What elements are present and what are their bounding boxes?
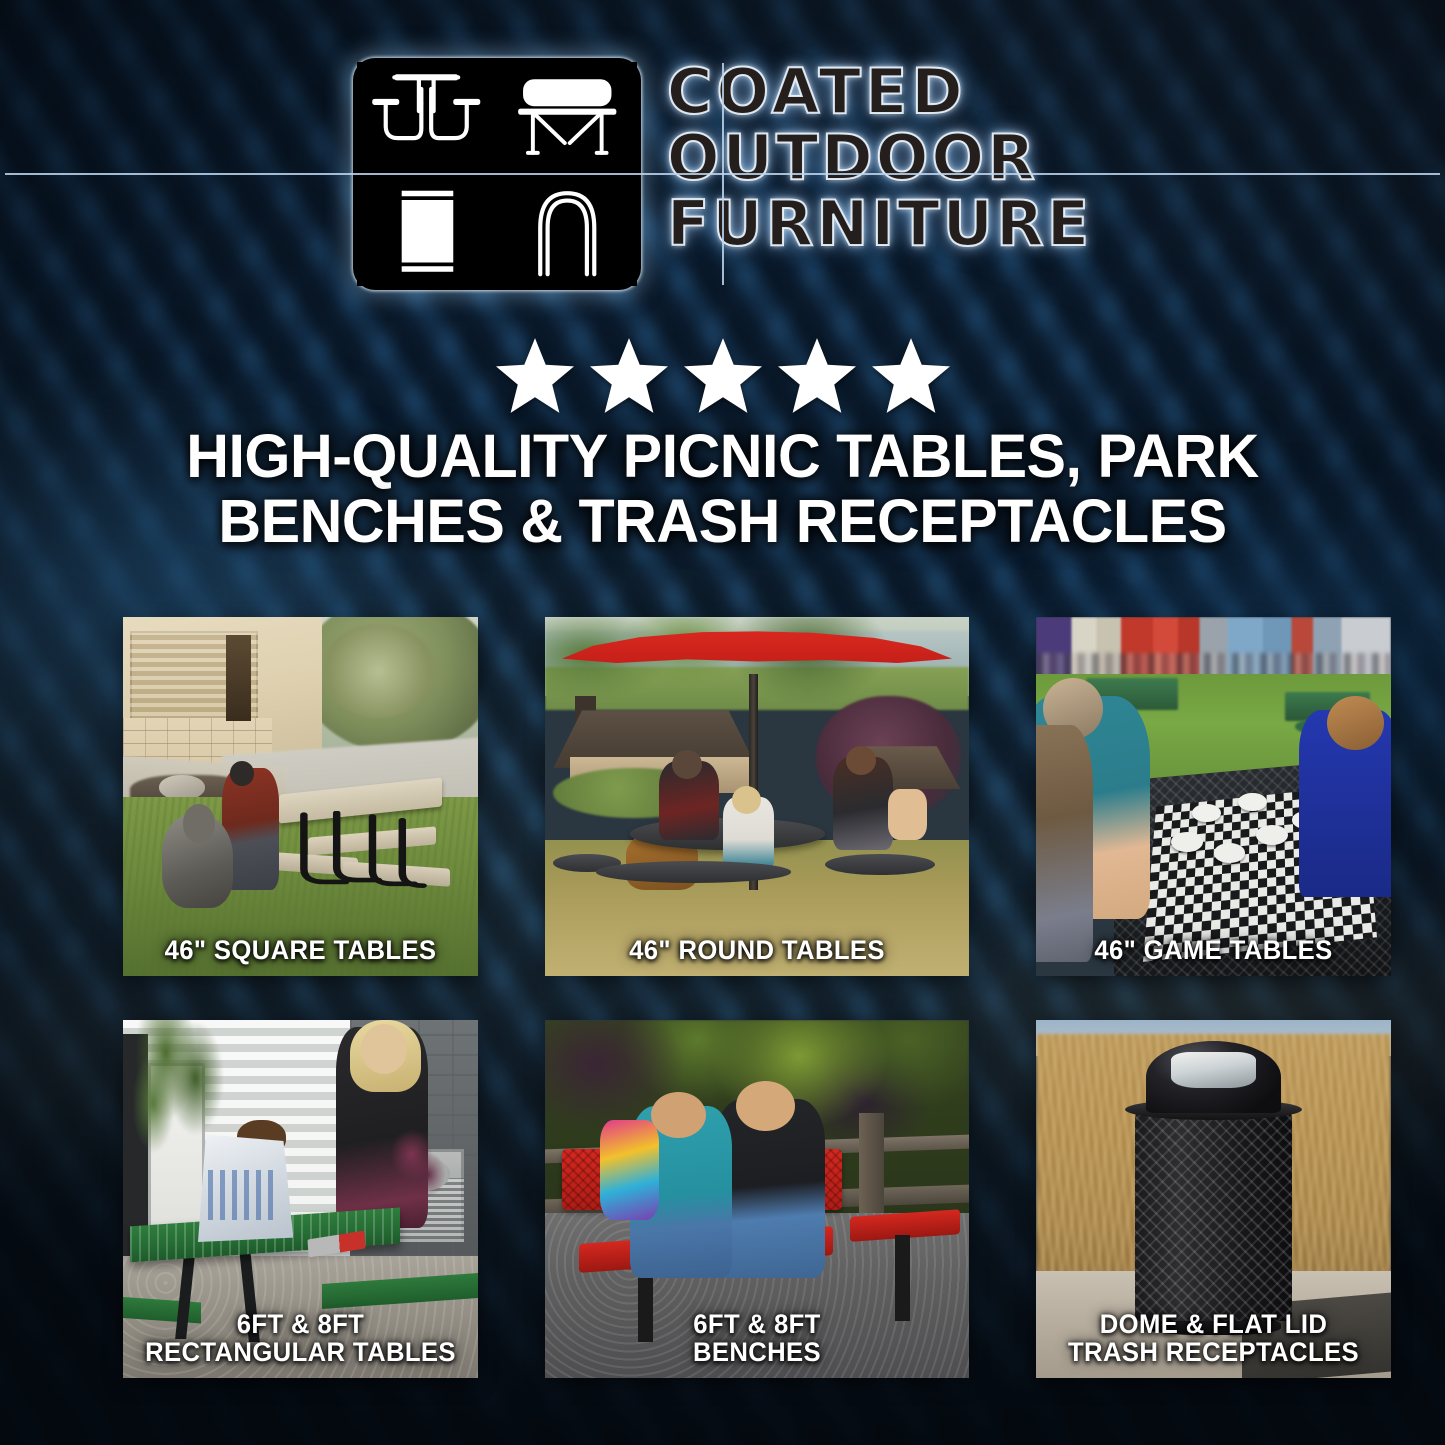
logo-grid-divider-horizontal (5, 173, 1440, 175)
product-caption: 46" ROUND TABLES (561, 936, 952, 964)
product-grid: 46" SQUARE TABLES (123, 617, 1323, 1377)
caption-line-2: BENCHES (561, 1338, 952, 1366)
product-tile-game-tables[interactable]: 46" GAME TABLES (1036, 617, 1391, 976)
headline-line-2: BENCHES & TRASH RECEPTACLES (90, 489, 1356, 554)
caption-line-2: RECTANGULAR TABLES (138, 1338, 464, 1366)
page-title: HIGH-QUALITY PICNIC TABLES, PARK BENCHES… (90, 424, 1356, 555)
product-photo-round-tables (545, 617, 969, 976)
caption-line-1: 6FT & 8FT (237, 1309, 364, 1339)
star-icon (496, 338, 574, 413)
caption-line-1: 46" ROUND TABLES (629, 935, 885, 965)
caption-line-2: TRASH RECEPTACLES (1051, 1338, 1377, 1366)
product-tile-rectangular-tables[interactable]: 6FT & 8FT RECTANGULAR TABLES (123, 1020, 478, 1378)
promotional-banner: COATED OUTDOOR FURNITURE HIGH-QUALITY PI… (0, 0, 1445, 1445)
caption-line-1: 46" SQUARE TABLES (165, 935, 437, 965)
park-bench-icon (498, 62, 637, 173)
product-tile-square-tables[interactable]: 46" SQUARE TABLES (123, 617, 478, 976)
bike-rack-icon (498, 176, 637, 287)
product-caption: 46" GAME TABLES (1051, 936, 1377, 964)
product-caption: 6FT & 8FT BENCHES (561, 1310, 952, 1366)
star-icon (778, 338, 856, 413)
logo-icon-grid (353, 58, 641, 290)
product-caption: DOME & FLAT LID TRASH RECEPTACLES (1051, 1310, 1377, 1366)
brand-line-furniture: FURNITURE (667, 192, 1092, 256)
product-caption: 46" SQUARE TABLES (138, 936, 464, 964)
product-photo-game-tables (1036, 617, 1391, 976)
brand-wordmark: COATED OUTDOOR FURNITURE (667, 58, 1092, 256)
product-tile-trash-receptacles[interactable]: DOME & FLAT LID TRASH RECEPTACLES (1036, 1020, 1391, 1378)
product-tile-round-tables[interactable]: 46" ROUND TABLES (545, 617, 969, 976)
caption-line-1: DOME & FLAT LID (1100, 1309, 1327, 1339)
brand-line-coated: COATED (667, 60, 1092, 124)
caption-line-1: 6FT & 8FT (693, 1309, 820, 1339)
star-icon (684, 338, 762, 413)
star-icon (590, 338, 668, 413)
star-icon (872, 338, 950, 413)
product-tile-benches[interactable]: 6FT & 8FT BENCHES (545, 1020, 969, 1378)
trash-receptacle-icon (357, 176, 496, 287)
headline-line-1: HIGH-QUALITY PICNIC TABLES, PARK (90, 424, 1356, 489)
product-caption: 6FT & 8FT RECTANGULAR TABLES (138, 1310, 464, 1366)
brand-logo: COATED OUTDOOR FURNITURE (0, 58, 1445, 290)
brand-line-outdoor: OUTDOOR (667, 126, 1092, 190)
picnic-table-icon (357, 62, 496, 173)
product-photo-square-tables (123, 617, 478, 976)
caption-line-1: 46" GAME TABLES (1094, 935, 1332, 965)
star-rating (0, 338, 1445, 413)
